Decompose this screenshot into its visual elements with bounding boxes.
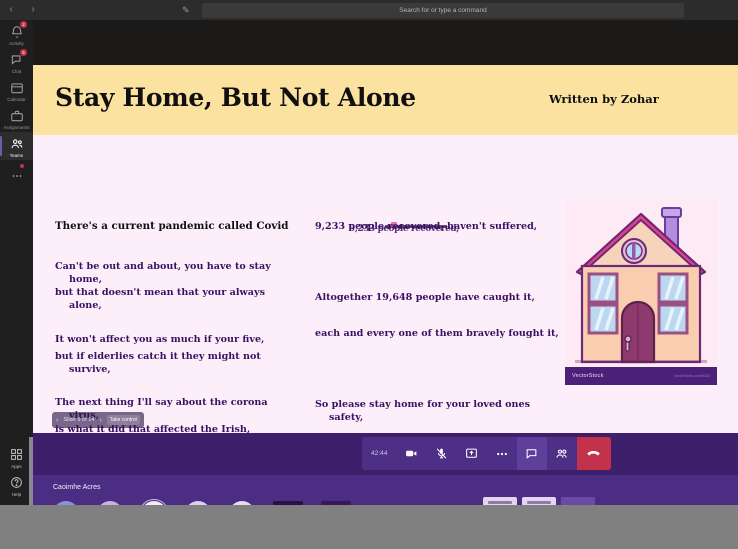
previous-slide-icon[interactable]: ‹ <box>56 417 58 424</box>
title-bar: ‹ › ✎ Search for or type a command <box>0 0 738 20</box>
participant-strip: Caoimhe Acres <box>33 475 738 505</box>
ellipsis-icon <box>495 447 509 461</box>
slide-right-verse-3: each and every one of them bravely fough… <box>315 327 565 340</box>
shared-content-area: Stay Home, But Not Alone Written by Zoha… <box>33 20 738 433</box>
house-illustration: VectorStock VectorStock.com/8283 <box>565 200 717 385</box>
slide-right-verse-4: So please stay home for your loved ones … <box>315 398 565 424</box>
hangup-button[interactable] <box>577 437 611 470</box>
search-input[interactable]: Search for or type a command <box>202 3 684 18</box>
nav-arrows: ‹ › <box>6 4 38 16</box>
call-timer: 42:44 <box>362 437 397 470</box>
apps-icon <box>10 448 24 462</box>
more-actions-button[interactable] <box>487 437 517 470</box>
more-dot-badge <box>20 164 24 168</box>
help-icon <box>10 476 24 490</box>
sidebar-item-label: Activity <box>9 41 24 46</box>
slide-left-verse-4: but if elderlies catch it they might not… <box>55 350 295 376</box>
sidebar-item-label: Teams <box>10 153 23 158</box>
microphone-button[interactable] <box>427 437 457 470</box>
slide-left-verse-1: Can't be out and about, you have to stay… <box>55 260 295 286</box>
call-control-row: 42:44 <box>33 433 738 475</box>
call-control-bar: 42:44 <box>362 437 611 470</box>
briefcase-icon <box>10 109 24 123</box>
video-tile[interactable] <box>483 497 517 505</box>
participants-button[interactable] <box>547 437 577 470</box>
slide-left-verse-2: but that doesn't mean that your always a… <box>55 286 295 312</box>
calendar-icon <box>10 81 24 95</box>
slide-navigation-bar[interactable]: ‹ Slide 9 of 14 › Take control <box>52 412 144 428</box>
slide-counter: Slide 9 of 14 <box>63 417 94 423</box>
camera-icon <box>405 447 418 460</box>
sidebar-item-label: Assignments <box>3 125 29 130</box>
video-tile-group <box>483 497 595 505</box>
compose-icon[interactable]: ✎ <box>182 4 194 16</box>
sidebar-item-more[interactable] <box>0 160 33 188</box>
vectorstock-url: VectorStock.com/8283 <box>674 374 710 378</box>
people-icon <box>10 137 24 151</box>
camera-button[interactable] <box>397 437 427 470</box>
hangup-icon <box>586 446 601 461</box>
chat-badge: 5 <box>20 49 27 56</box>
slide-title: Stay Home, But Not Alone <box>55 83 416 112</box>
chat-button[interactable] <box>517 437 547 470</box>
sidebar-item-label: Apps <box>11 464 21 469</box>
meeting-stage: Stay Home, But Not Alone Written by Zoha… <box>33 20 738 505</box>
chat-bubble-icon <box>525 447 538 460</box>
activity-badge: 2 <box>20 21 27 28</box>
sidebar-item-teams[interactable]: Teams <box>0 132 33 160</box>
app-rail: 2 Activity 5 Chat Calendar <box>0 20 33 505</box>
presenter-name: Caoimhe Acres <box>53 484 100 491</box>
share-screen-button[interactable] <box>457 437 487 470</box>
sidebar-item-label: Calendar <box>7 97 26 102</box>
slide-author: Written by Zohar <box>549 92 659 106</box>
slide-right-verse-2: Altogether 19,648 people have caught it, <box>315 291 565 304</box>
slide-right-verse-1: 9,233 people recovered, haven't suffered… <box>315 220 565 233</box>
sidebar-item-label: Chat <box>12 69 22 74</box>
vectorstock-watermark: VectorStock VectorStock.com/8283 <box>565 367 717 385</box>
sidebar-item-label: Help <box>12 492 21 497</box>
back-icon[interactable]: ‹ <box>6 4 16 16</box>
people-icon <box>555 447 569 461</box>
vectorstock-logo: VectorStock <box>572 373 604 379</box>
slide-left-verse-3: It won't affect you as much if your five… <box>55 333 295 346</box>
more-icon <box>10 169 24 183</box>
video-tile[interactable] <box>522 497 556 505</box>
share-screen-icon <box>465 447 478 460</box>
sidebar-item-activity[interactable]: 2 Activity <box>0 20 33 48</box>
powerpoint-slide[interactable]: Stay Home, But Not Alone Written by Zoha… <box>33 65 738 433</box>
forward-icon[interactable]: › <box>28 4 38 16</box>
slide-banner-line: There's a current pandemic called Covid <box>55 220 288 233</box>
sidebar-item-assignments[interactable]: Assignments <box>0 104 33 132</box>
letterbox-area <box>0 505 738 549</box>
take-control-button[interactable]: Take control <box>107 415 140 425</box>
next-slide-icon[interactable]: › <box>99 417 101 424</box>
sidebar-item-chat[interactable]: 5 Chat <box>0 48 33 76</box>
microphone-muted-icon <box>435 447 448 460</box>
sidebar-item-calendar[interactable]: Calendar <box>0 76 33 104</box>
video-tile[interactable] <box>561 497 595 505</box>
screen: ‹ › ✎ Search for or type a command 2 Act… <box>0 0 738 549</box>
teams-window: ‹ › ✎ Search for or type a command 2 Act… <box>0 0 738 505</box>
